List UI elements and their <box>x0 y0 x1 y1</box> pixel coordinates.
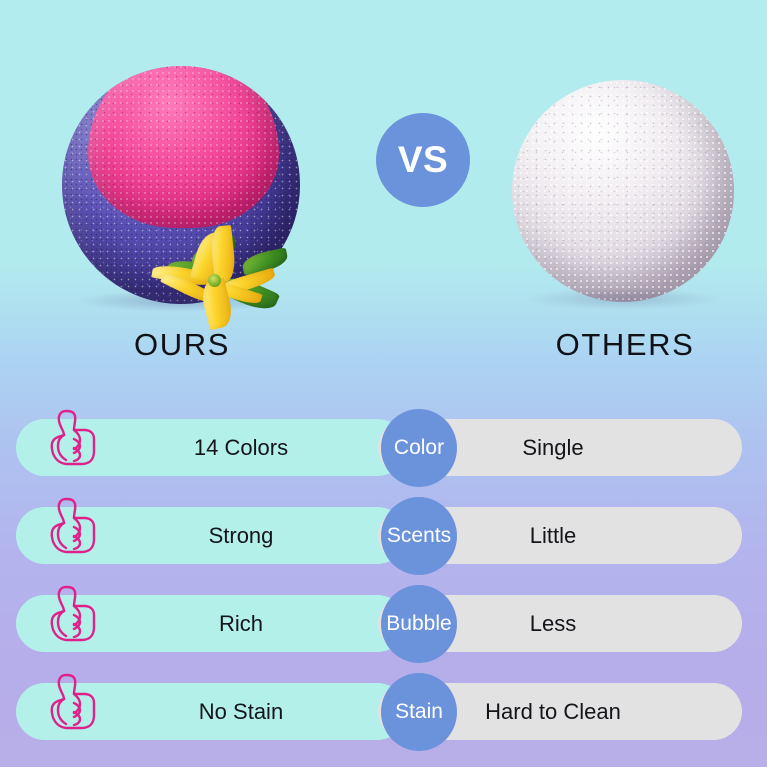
others-product-image <box>512 80 742 320</box>
table-row: No Stain Hard to Clean Stain <box>0 677 767 747</box>
table-row: Rich Less Bubble <box>0 589 767 659</box>
ours-value: 14 Colors <box>116 435 366 461</box>
others-value: Little <box>530 523 590 549</box>
ours-product-image <box>62 66 302 311</box>
ours-value: No Stain <box>116 699 366 725</box>
others-bomb-texture <box>512 80 734 302</box>
feature-label: Scents <box>387 524 451 548</box>
thumbs-up-icon <box>44 581 102 647</box>
others-bath-bomb <box>512 80 734 302</box>
others-value: Less <box>530 611 590 637</box>
ours-value: Rich <box>116 611 366 637</box>
vs-badge: VS <box>376 113 470 207</box>
ours-caption: OURS <box>62 327 302 363</box>
feature-badge: Stain <box>381 673 457 751</box>
table-row: Strong Little Scents <box>0 501 767 571</box>
ours-cap-texture <box>88 66 278 228</box>
ours-bomb-pink-cap <box>88 66 278 228</box>
feature-label: Stain <box>395 700 443 724</box>
others-bomb-shadow <box>524 288 722 310</box>
others-caption: OTHERS <box>512 327 738 363</box>
flower-center <box>208 274 221 287</box>
feature-label: Bubble <box>386 612 451 636</box>
product-comparison-infographic: VS OURS OTHERS 14 Colors Single <box>0 0 767 767</box>
others-value: Single <box>522 435 597 461</box>
table-row: 14 Colors Single Color <box>0 413 767 483</box>
hero-section: VS OURS OTHERS <box>0 0 767 395</box>
thumbs-up-icon <box>44 405 102 471</box>
feature-badge: Bubble <box>381 585 457 663</box>
thumbs-up-icon <box>44 669 102 735</box>
feature-badge: Scents <box>381 497 457 575</box>
ylang-ylang-flower-icon <box>146 224 296 334</box>
ours-value: Strong <box>116 523 366 549</box>
feature-badge: Color <box>381 409 457 487</box>
thumbs-up-icon <box>44 493 102 559</box>
feature-label: Color <box>394 436 444 460</box>
others-value: Hard to Clean <box>485 699 635 725</box>
vs-label: VS <box>398 139 448 181</box>
comparison-table: 14 Colors Single Color Strong <box>0 395 767 767</box>
